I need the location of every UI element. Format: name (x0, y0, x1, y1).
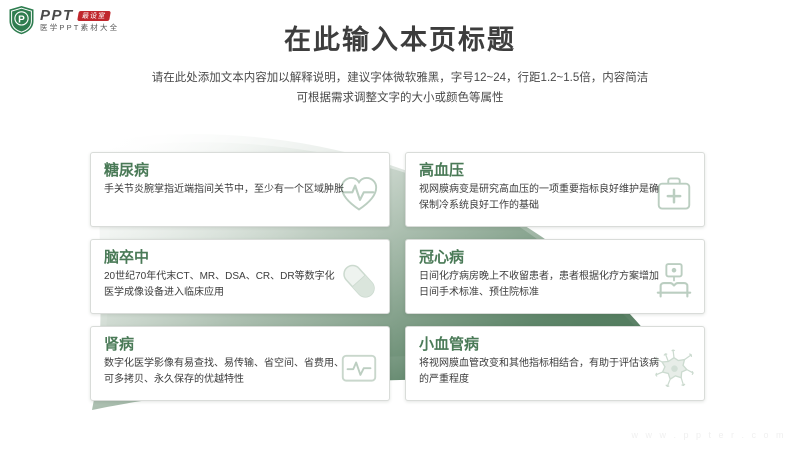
card-body: 数字化医学影像有易查找、易传输、省空间、省费用、可多拷贝、永久保存的优越特性 (104, 356, 344, 387)
card-title: 冠心病 (419, 249, 692, 266)
disease-card[interactable]: 冠心病 日间化疗病房晚上不收留患者，患者根据化疗方案增加日间手术标准、预住院标准 (405, 239, 705, 314)
logo-ppt-text: PPT (40, 8, 74, 23)
page-title: 在此输入本页标题 (0, 18, 800, 57)
disease-card[interactable]: 高血压 视网膜病变是研究高血压的一项重要指标良好维护是确保制冷系统良好工作的基础 (405, 152, 705, 227)
disease-card-grid: 糖尿病 手关节炎腕掌指近端指间关节中，至少有一个区域肿胀 高血压 视网膜病变是研… (90, 152, 656, 401)
card-body: 将视网膜血管改变和其他指标相结合，有助于评估该病的严重程度 (419, 356, 659, 387)
brand-logo[interactable]: P PPT 最设室 医学PPT素材大全 (8, 5, 119, 35)
page-subtitle: 请在此处添加文本内容加以解释说明，建议字体微软雅黑，字号12~24，行距1.2~… (0, 68, 800, 108)
subtitle-line-1: 请在此处添加文本内容加以解释说明，建议字体微软雅黑，字号12~24，行距1.2~… (0, 68, 800, 88)
disease-card[interactable]: 脑卒中 20世纪70年代末CT、MR、DSA、CR、DR等数字化医学成像设备进入… (90, 239, 390, 314)
card-body: 视网膜病变是研究高血压的一项重要指标良好维护是确保制冷系统良好工作的基础 (419, 182, 659, 213)
svg-text:P: P (18, 15, 25, 26)
card-body: 手关节炎腕掌指近端指间关节中，至少有一个区域肿胀 (104, 182, 344, 198)
subtitle-line-2: 可根据需求调整文字的大小或颜色等属性 (0, 88, 800, 108)
disease-card[interactable]: 糖尿病 手关节炎腕掌指近端指间关节中，至少有一个区域肿胀 (90, 152, 390, 227)
logo-wordmark: PPT 最设室 医学PPT素材大全 (40, 8, 119, 32)
footer-watermark: w w w . p p t e r . c o m (631, 430, 786, 440)
disease-card[interactable]: 肾病 数字化医学影像有易查找、易传输、省空间、省费用、可多拷贝、永久保存的优越特… (90, 326, 390, 401)
card-title: 小血管病 (419, 336, 692, 353)
card-body: 20世纪70年代末CT、MR、DSA、CR、DR等数字化医学成像设备进入临床应用 (104, 269, 344, 300)
logo-subtitle: 医学PPT素材大全 (40, 24, 119, 32)
card-body: 日间化疗病房晚上不收留患者，患者根据化疗方案增加日间手术标准、预住院标准 (419, 269, 659, 300)
disease-card[interactable]: 小血管病 将视网膜血管改变和其他指标相结合，有助于评估该病的严重程度 (405, 326, 705, 401)
shield-icon: P (8, 5, 35, 35)
card-title: 脑卒中 (104, 249, 377, 266)
card-title: 高血压 (419, 162, 692, 179)
card-title: 肾病 (104, 336, 377, 353)
card-title: 糖尿病 (104, 162, 377, 179)
logo-badge: 最设室 (77, 11, 111, 21)
